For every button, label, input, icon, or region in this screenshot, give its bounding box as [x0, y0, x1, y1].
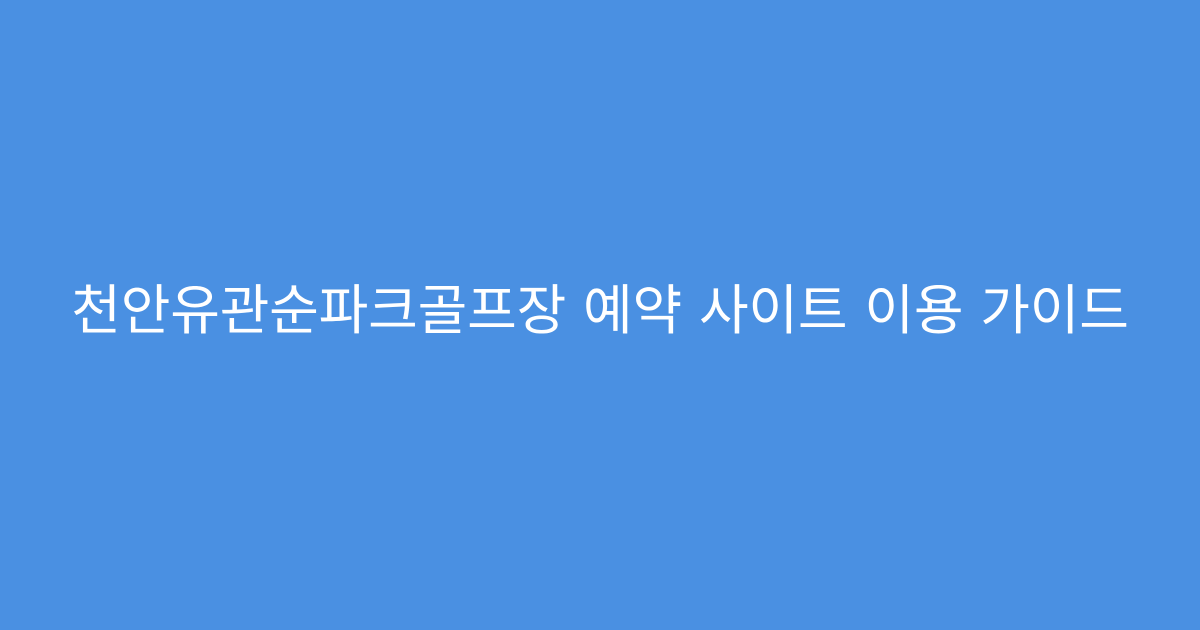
page-title: 천안유관순파크골프장 예약 사이트 이용 가이드 [70, 279, 1130, 343]
og-banner-card: 천안유관순파크골프장 예약 사이트 이용 가이드 [0, 0, 1200, 630]
